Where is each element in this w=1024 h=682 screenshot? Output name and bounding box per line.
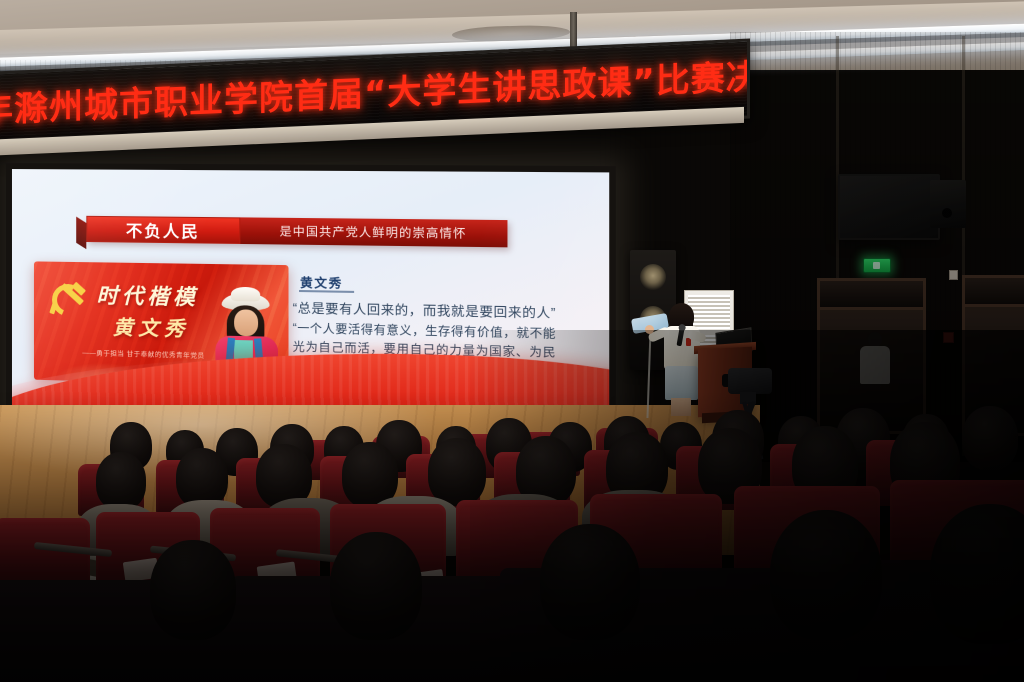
slide-title-tag: 不负人民 — [86, 216, 240, 244]
auditorium-scene: 年滁州城市职业学院首届“大学生讲思政课”比赛决赛 不负人民 是中国共产党人鲜明的… — [0, 0, 1024, 682]
slide-title-bar: 不负人民 是中国共产党人鲜明的崇高情怀 — [86, 216, 507, 248]
poster-subject-name: 黄文秀 — [113, 311, 190, 342]
slide-name-underline — [299, 290, 354, 293]
title-bar-notch — [76, 217, 86, 250]
slide-title-subtitle: 是中国共产党人鲜明的崇高情怀 — [240, 217, 507, 247]
slide-quote-part1: “总是要有人回来的，而我就是要回来的人” — [293, 301, 556, 320]
speaker-driver-icon — [640, 264, 666, 290]
slide-person-name: 黄文秀 — [300, 274, 343, 292]
portrait-face — [234, 309, 258, 336]
poster-headline: 时代楷模 — [96, 279, 198, 311]
hammer-and-sickle-icon — [50, 282, 86, 317]
audience-darkness-overlay — [0, 392, 1024, 682]
